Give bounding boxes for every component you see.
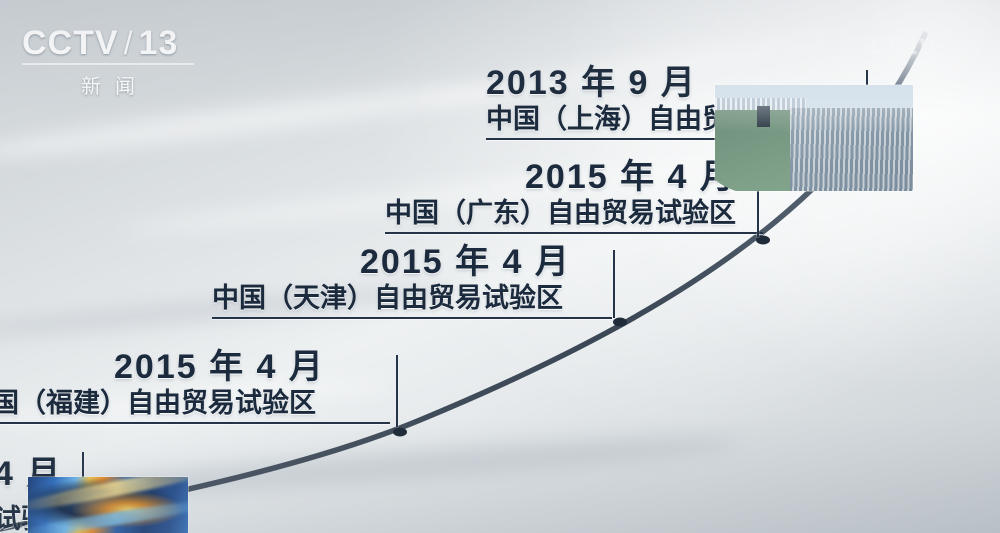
channel-logo-text: CCTV / 13 xyxy=(22,26,212,60)
entry-year: 2015 年 4 月 xyxy=(212,245,612,281)
entry-tick-fujian xyxy=(396,355,398,427)
channel-number: 13 xyxy=(138,26,178,60)
inset-haze xyxy=(715,85,913,191)
channel-logo: CCTV / 13 新闻 xyxy=(22,26,212,96)
entry-name: 中国（广东）自由贸易试验区 xyxy=(385,198,763,228)
entry-underline xyxy=(0,422,390,424)
entry-year: 2015 年 4 月 xyxy=(0,350,390,386)
entry-name: 中国（天津）自由贸易试验区 xyxy=(212,283,612,313)
timeline-entry-guangdong: 2015 年 4 月 中国（广东）自由贸易试验区 xyxy=(385,160,763,234)
entry-underline xyxy=(212,317,612,319)
channel-slash: / xyxy=(124,27,134,59)
inset-video-globe[interactable] xyxy=(28,477,188,533)
channel-name: CCTV xyxy=(22,26,119,60)
entry-name: 国（福建）自由贸易试验区 xyxy=(0,388,390,418)
timeline-entry-tianjin: 2015 年 4 月 中国（天津）自由贸易试验区 xyxy=(212,245,612,319)
entry-year: 2015 年 4 月 xyxy=(385,160,763,196)
entry-tick-tianjin xyxy=(613,250,615,318)
corner-watermark: cctv xyxy=(870,28,938,62)
broadcast-frame: 2013 年 9 月 中国（上海）自由贸易试验区 2015 年 4 月 中国（广… xyxy=(0,0,1000,533)
timeline-entry-fujian: 2015 年 4 月 国（福建）自由贸易试验区 xyxy=(0,350,390,424)
entry-underline xyxy=(385,232,763,234)
channel-subtitle: 新闻 xyxy=(22,70,194,99)
inset-video-city[interactable] xyxy=(715,85,913,191)
data-node-tianjin xyxy=(613,318,627,327)
channel-logo-rule xyxy=(22,63,194,65)
data-node-fujian xyxy=(393,428,407,437)
